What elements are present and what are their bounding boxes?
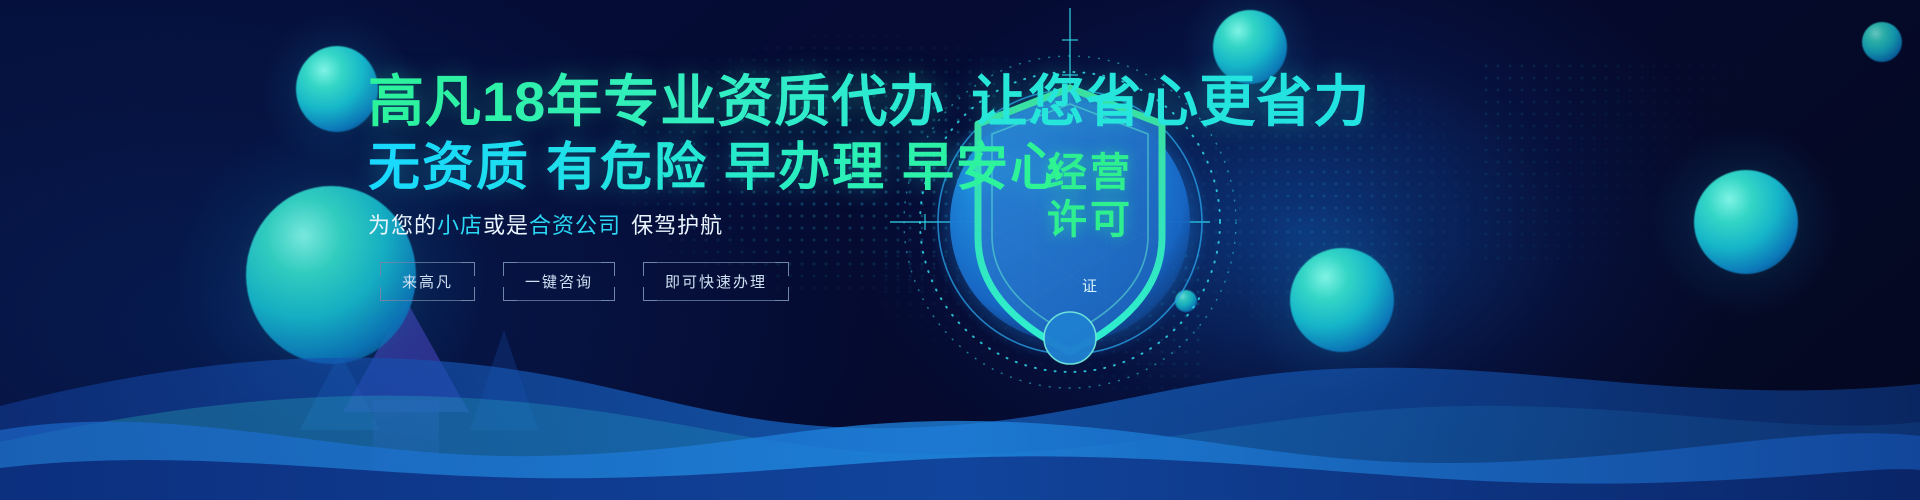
cta-button-come-label: 来高凡	[402, 274, 453, 291]
cta-button-fast-process[interactable]: 即可快速办理	[643, 262, 789, 301]
subtitle-part-1: 为您的	[368, 213, 437, 238]
cta-button-come[interactable]: 来高凡	[380, 262, 475, 301]
corner-decor	[643, 287, 657, 301]
corner-decor	[601, 287, 615, 301]
subtitle-part-5: 保驾护航	[631, 213, 723, 238]
headline-secondary-4: 早安心	[902, 139, 1064, 197]
corner-decor	[461, 262, 475, 276]
cta-button-fast-process-label: 即可快速办理	[665, 274, 767, 291]
corner-decor	[380, 262, 394, 276]
headline-secondary: 无资质有危险早办理早安心	[368, 125, 1064, 200]
subtitle-line: 为您的小店或是合资公司保驾护航	[368, 208, 723, 240]
edge-decor	[393, 262, 462, 263]
halftone-dots-decor	[1480, 60, 1740, 260]
edge-decor	[656, 300, 776, 301]
subtitle-highlight-shop: 小店	[437, 213, 483, 238]
promo-banner: 经营 许可 证 高凡18年专业资质代办让您省心更省力 无资质有危险早办理早安心 …	[0, 0, 1920, 500]
sphere-decor	[1862, 22, 1902, 62]
sphere-decor	[1694, 170, 1798, 274]
edge-decor	[393, 300, 462, 301]
corner-decor	[380, 287, 394, 301]
cta-button-consult[interactable]: 一键咨询	[503, 262, 615, 301]
corner-decor	[775, 262, 789, 276]
subtitle-highlight-jv: 合资公司	[529, 213, 621, 238]
headline-primary-a: 高凡18年专业资质代办	[368, 70, 945, 133]
corner-decor	[643, 262, 657, 276]
wave-decor	[0, 310, 1920, 500]
edge-decor	[656, 262, 776, 263]
corner-decor	[601, 262, 615, 276]
headline-primary-b: 让您省心更省力	[971, 70, 1370, 133]
headline-secondary-1: 无资质	[368, 139, 530, 197]
cta-button-row: 来高凡 一键咨询 即可快速办理	[380, 262, 789, 301]
corner-decor	[503, 287, 517, 301]
headline-secondary-2: 有危险	[546, 139, 708, 197]
edge-decor	[516, 262, 602, 263]
subtitle-part-3: 或是	[483, 213, 529, 238]
corner-decor	[503, 262, 517, 276]
headline-secondary-3: 早办理	[724, 139, 886, 197]
corner-decor	[775, 287, 789, 301]
edge-decor	[516, 300, 602, 301]
cta-button-consult-label: 一键咨询	[525, 274, 593, 291]
corner-decor	[461, 287, 475, 301]
